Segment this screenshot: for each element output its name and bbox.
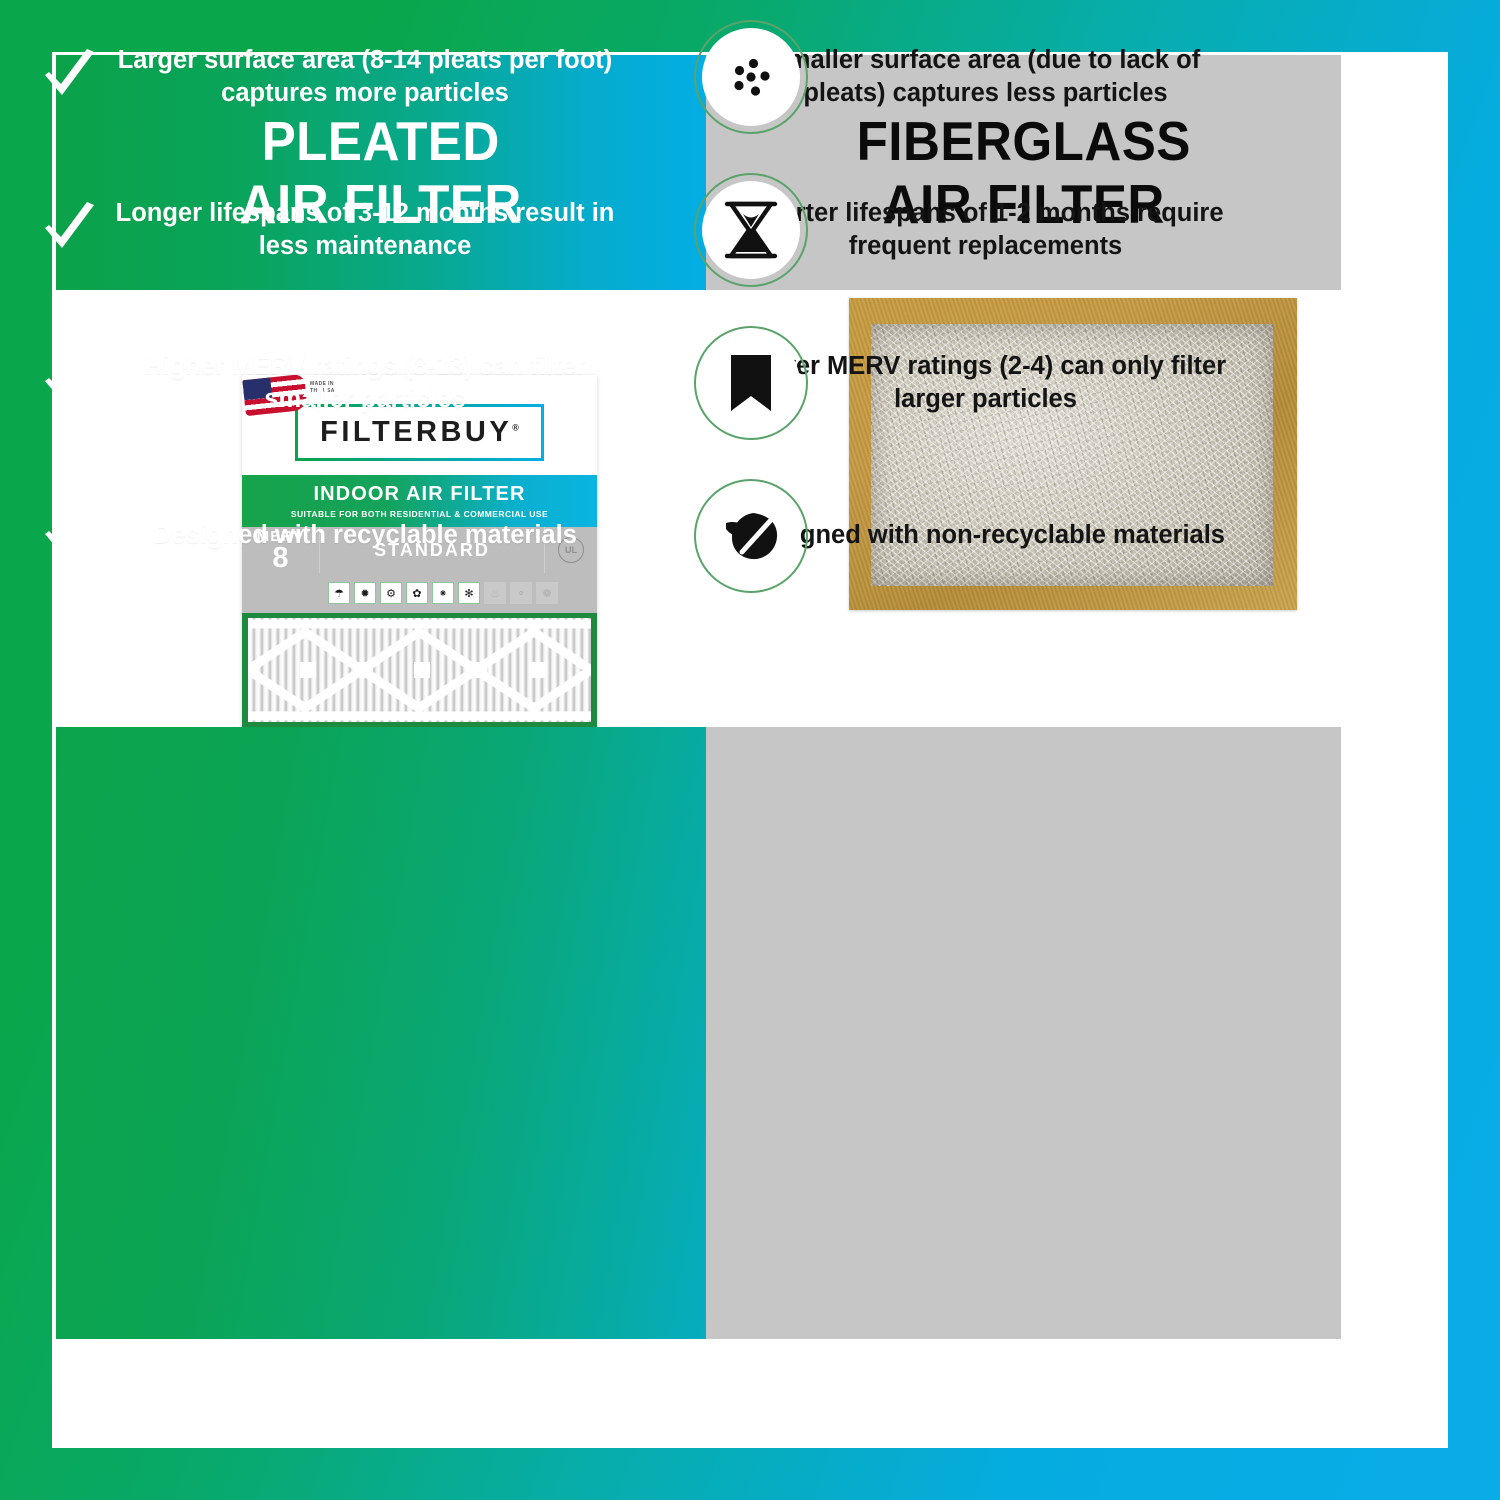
- leaf-icon: [702, 487, 800, 585]
- comparison-row: Longer lifespans of 3-12 months result i…: [0, 153, 1285, 306]
- infographic-page: PLEATED AIR FILTER FIBERGLASS AIR FILTER…: [0, 0, 1500, 1500]
- comparison-row-pleated: Longer lifespans of 3-12 months result i…: [0, 153, 650, 306]
- hourglass-icon: [702, 181, 800, 279]
- comparison-pleated-text: Longer lifespans of 3-12 months result i…: [112, 197, 618, 262]
- comparison-column-fiberglass: [706, 727, 1341, 1339]
- checkmark-icon: [40, 48, 98, 106]
- comparison-row: Higher MERV ratings (8-13) can filter sm…: [0, 306, 1285, 459]
- checkmark-icon: [40, 507, 98, 565]
- comparison-fiberglass-text: Designed with non-recyclable materials: [746, 519, 1225, 552]
- comparison-row-pleated: Larger surface area (8-14 pleats per foo…: [0, 0, 650, 153]
- filter-support-web-icon: [248, 618, 591, 722]
- comparison-feature-medallion: [694, 173, 808, 287]
- comparison-pleated-text: Designed with recyclable materials: [112, 519, 618, 552]
- checkmark-icon: [40, 201, 98, 259]
- comparison-band: [56, 727, 1341, 1339]
- comparison-row-pleated: Higher MERV ratings (8-13) can filter sm…: [0, 306, 650, 459]
- pleat-media: [248, 618, 591, 722]
- comparison-feature-medallion: [694, 20, 808, 134]
- checkmark-icon: [40, 354, 98, 412]
- comparison-feature-medallion: [694, 479, 808, 593]
- comparison-row: Larger surface area (8-14 pleats per foo…: [0, 0, 1285, 153]
- comparison-row-pleated: Designed with recyclable materials: [0, 459, 650, 612]
- particles-icon: [702, 28, 800, 126]
- comparison-pleated-text: Higher MERV ratings (8-13) can filter sm…: [112, 350, 618, 415]
- comparison-column-pleated: [56, 727, 706, 1339]
- bookmark-icon: [702, 334, 800, 432]
- comparison-feature-medallion: [694, 326, 808, 440]
- comparison-rows: Larger surface area (8-14 pleats per foo…: [0, 0, 1285, 612]
- package-filter-photo: FILTERBUY: [242, 613, 597, 744]
- comparison-row: Designed with recyclable materialsDesign…: [0, 459, 1285, 612]
- comparison-pleated-text: Larger surface area (8-14 pleats per foo…: [112, 44, 618, 109]
